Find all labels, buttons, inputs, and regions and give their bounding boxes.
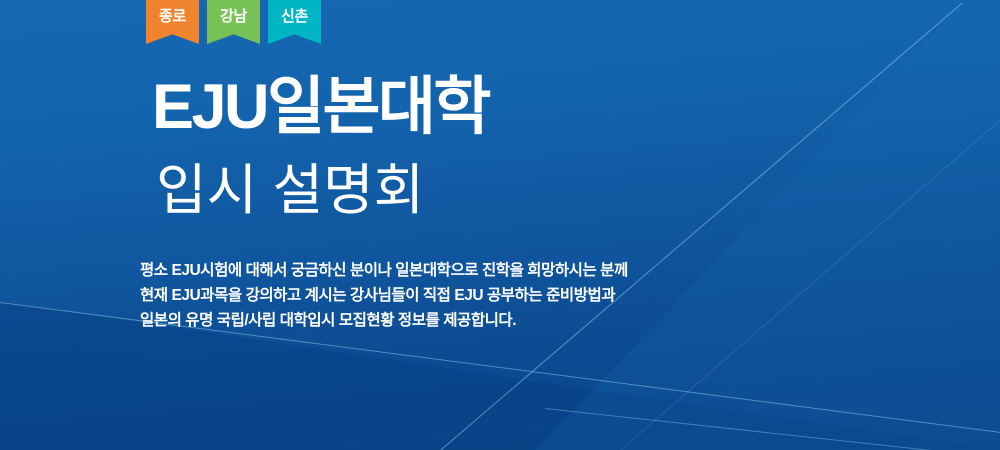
ribbon-label-jongno: 종로 — [159, 9, 186, 24]
banner-title-main: EJU일본대학 — [152, 76, 489, 139]
ribbon-label-gangnam: 강남 — [220, 9, 247, 24]
banner-title-sub: 입시 설명회 — [156, 163, 424, 218]
ribbon-tag-gangnam[interactable]: 강남 — [207, 0, 260, 44]
banner-description: 평소 EJU시험에 대해서 궁금하신 분이나 일본대학으로 진학을 희망하시는 … — [140, 258, 628, 333]
ribbon-label-sinchon: 신촌 — [281, 9, 308, 24]
ribbon-tag-sinchon[interactable]: 신촌 — [268, 0, 321, 44]
ribbon-tag-jongno[interactable]: 종로 — [146, 0, 199, 44]
campus-ribbon-group: 종로 강남 신촌 — [146, 0, 321, 44]
eju-seminar-banner: 종로 강남 신촌 EJU일본대학 입시 설명회 평소 EJU시험에 대해서 궁금… — [0, 0, 1000, 450]
description-line-1: 평소 EJU시험에 대해서 궁금하신 분이나 일본대학으로 진학을 희망하시는 … — [140, 258, 628, 283]
description-line-3: 일본의 유명 국립/사립 대학입시 모집현황 정보를 제공합니다. — [140, 308, 628, 333]
description-line-2: 현재 EJU과목을 강의하고 계시는 강사님들이 직접 EJU 공부하는 준비방… — [140, 283, 628, 308]
